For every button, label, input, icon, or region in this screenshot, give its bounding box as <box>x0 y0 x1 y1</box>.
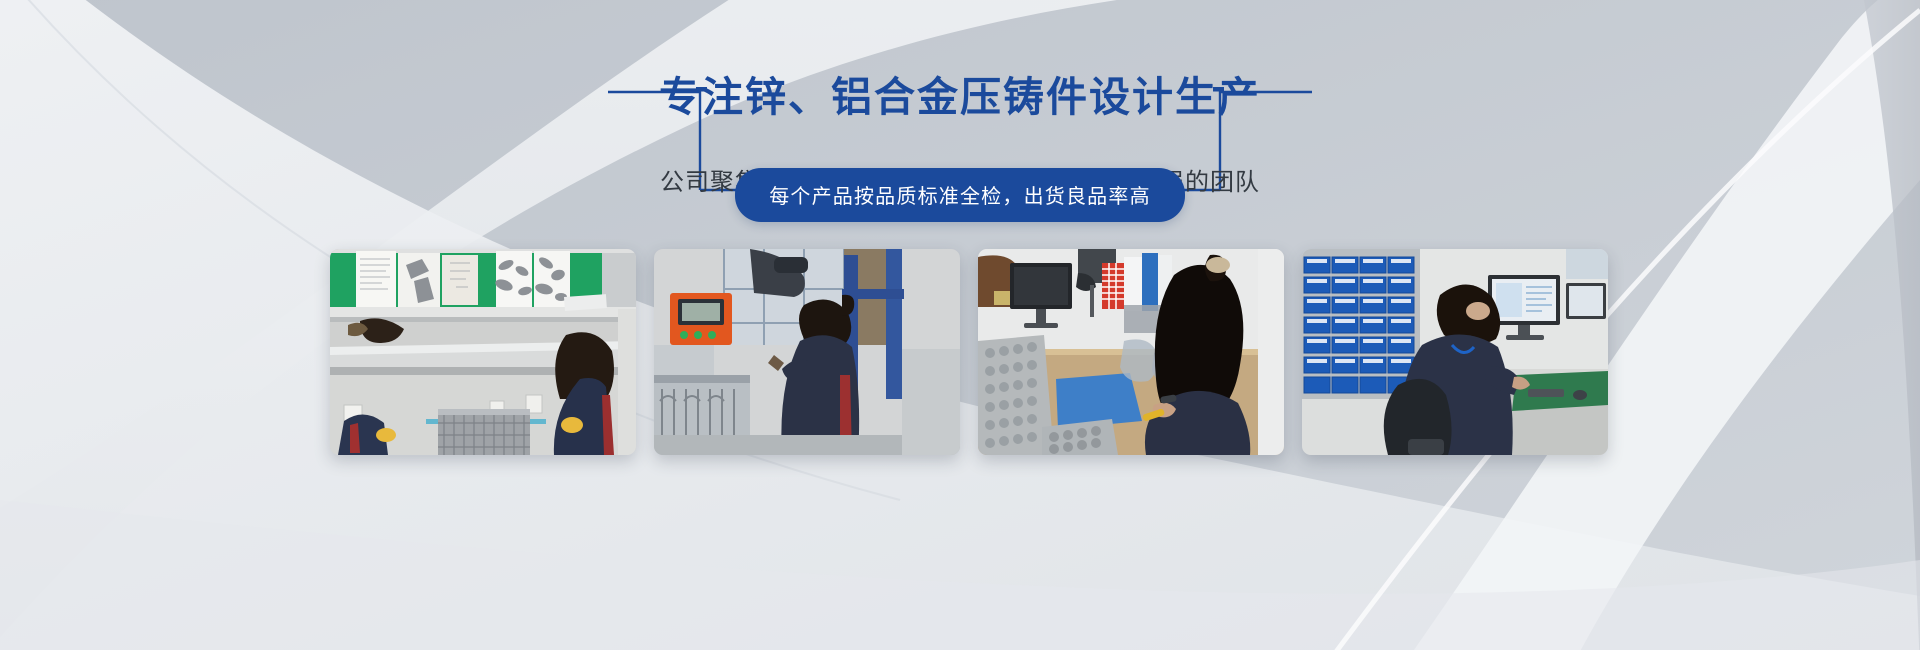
quality-badge: 每个产品按品质标准全检，出货良品率高 <box>735 168 1185 222</box>
photo-workshop-inspection[interactable]: 工人在流水线工位检查压铸零件，货架上贴有工艺图纸 <box>330 249 636 455</box>
pill-row: 每个产品按品质标准全检，出货良品率高 <box>0 168 1920 222</box>
promo-banner: 专注锌、铝合金压铸件设计生产 公司聚集了一批技术过硬，管理及业务能力较强的团队 … <box>0 0 1920 650</box>
banner-title: 专注锌、铝合金压铸件设计生产 <box>633 73 1287 122</box>
title-row: 专注锌、铝合金压铸件设计生产 <box>0 46 1920 150</box>
photo-office-bins[interactable]: 员工在蓝色料架前的电脑工位办公 <box>1302 249 1608 455</box>
photo-packing-inspection[interactable]: 员工在工作台上对零件进行包装与检验 <box>978 249 1284 455</box>
photo-diecasting-machine[interactable]: 工人在压铸机操作面板前作业 <box>654 249 960 455</box>
photo-strip: 工人在流水线工位检查压铸零件，货架上贴有工艺图纸 <box>330 249 1590 455</box>
